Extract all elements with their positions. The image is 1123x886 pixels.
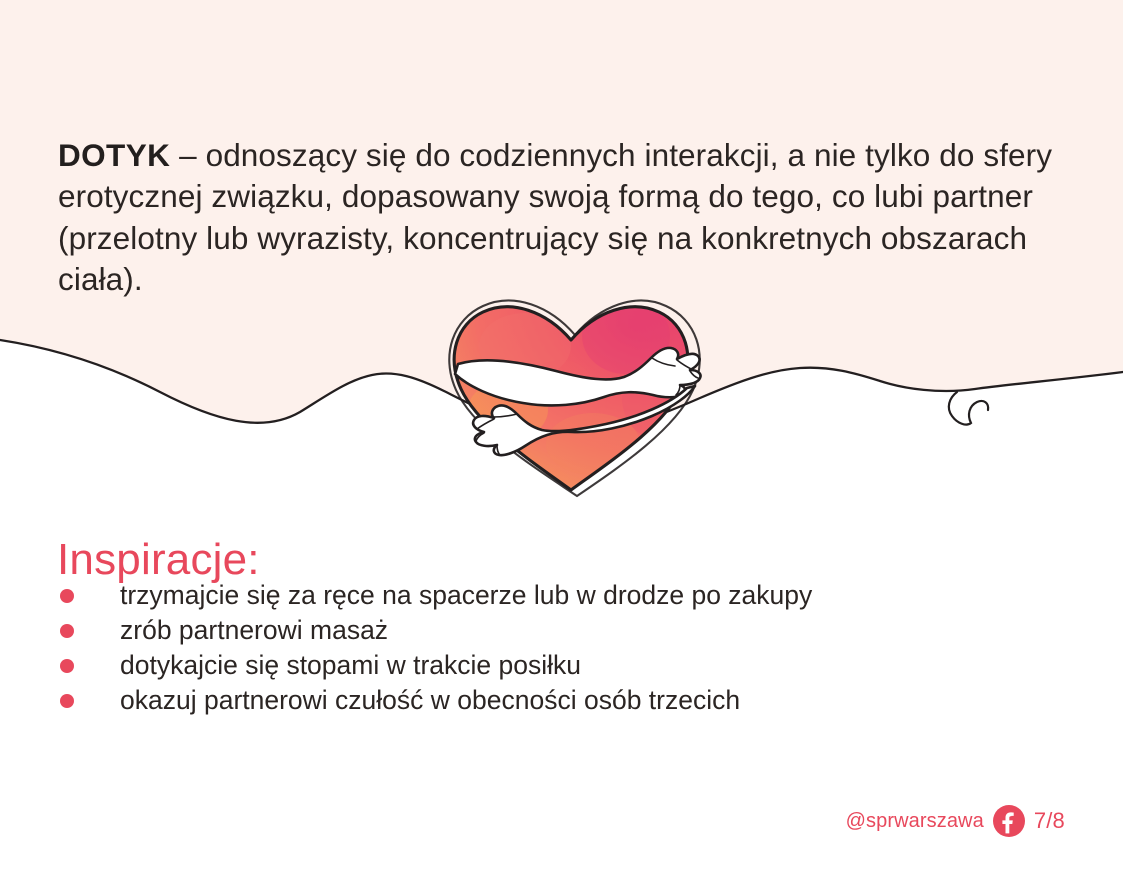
list-item: okazuj partnerowi czułość w obecności os…: [57, 683, 1007, 718]
page-number: 7/8: [1034, 810, 1065, 832]
list-item-label: okazuj partnerowi czułość w obecności os…: [120, 685, 740, 715]
list-item: zrób partnerowi masaż: [57, 613, 1007, 648]
slide-canvas: DOTYK – odnoszący się do codziennych int…: [0, 0, 1123, 886]
list-item-label: trzymajcie się za ręce na spacerze lub w…: [120, 580, 812, 610]
bullet-icon: [60, 659, 74, 673]
list-item-label: zrób partnerowi masaż: [120, 615, 388, 645]
social-handle: @sprwarszawa: [846, 811, 984, 831]
hugging-heart-illustration: [430, 278, 715, 503]
facebook-icon[interactable]: [993, 805, 1025, 837]
footer-credit: @sprwarszawa 7/8: [846, 805, 1065, 837]
intro-paragraph: DOTYK – odnoszący się do codziennych int…: [58, 135, 1063, 301]
list-item-label: dotykajcie się stopami w trakcie posiłku: [120, 650, 581, 680]
lead-term: DOTYK: [58, 137, 170, 173]
bullet-icon: [60, 589, 74, 603]
bullet-icon: [60, 624, 74, 638]
list-item: trzymajcie się za ręce na spacerze lub w…: [57, 578, 1007, 613]
bullet-icon: [60, 694, 74, 708]
inspirations-list: trzymajcie się za ręce na spacerze lub w…: [57, 578, 1007, 718]
list-item: dotykajcie się stopami w trakcie posiłku: [57, 648, 1007, 683]
intro-paragraph-text: – odnoszący się do codziennych interakcj…: [58, 137, 1052, 298]
